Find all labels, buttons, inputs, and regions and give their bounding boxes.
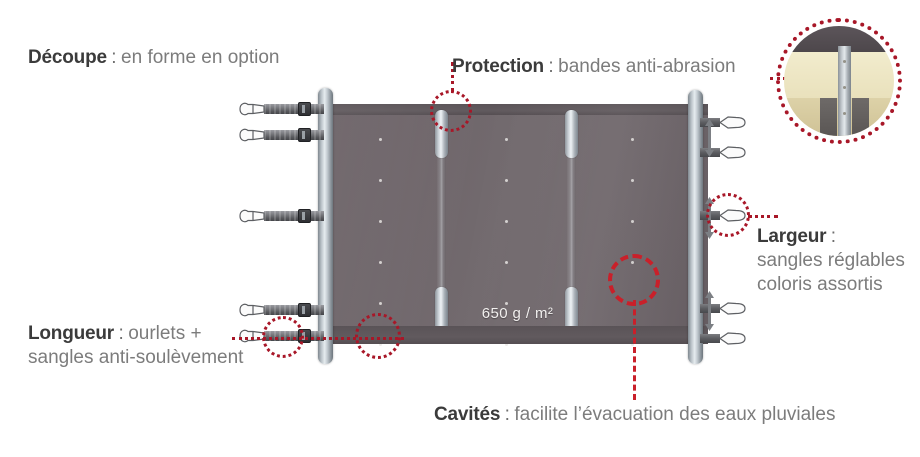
label-longueur-key: Longueur (28, 323, 114, 344)
tarp-sheet: 650 g / m² (327, 104, 708, 344)
hook-icon (236, 301, 266, 319)
hook-icon (236, 207, 266, 225)
annotation-leader-longueur (232, 337, 404, 340)
strap-webbing (264, 211, 324, 221)
label-decoupe-sep: : (111, 47, 116, 68)
label-cavites: Cavités : facilite l’évacuation des eaux… (434, 403, 835, 427)
label-decoupe: Découpe : en forme en option (28, 46, 279, 70)
strap-webbing (264, 104, 324, 114)
inset-block-left (820, 98, 837, 136)
label-protection-key: Protection (452, 56, 544, 77)
strap-left-2 (236, 130, 324, 140)
label-largeur-value: sangles réglables (757, 249, 917, 273)
label-longueur: Longueur : ourlets + sangles anti-soulèv… (28, 322, 243, 370)
tarp-hem-top (327, 104, 708, 115)
inset-clip (784, 26, 894, 136)
band-cap-top (565, 110, 578, 158)
label-longueur-value: ourlets + (128, 323, 201, 344)
weight-label: 650 g / m² (482, 305, 554, 322)
hook-icon (718, 114, 748, 131)
buckle-icon (298, 102, 311, 116)
annotation-circle-protection (430, 90, 472, 132)
reinforcement-band-2 (567, 114, 576, 327)
strap-left-1 (236, 104, 324, 114)
hook-icon (236, 126, 266, 144)
strap-left-3 (236, 211, 324, 221)
strap-webbing (700, 334, 720, 343)
arrow-up-down-icon (703, 290, 716, 332)
strap-webbing (264, 130, 324, 140)
annotation-circle-largeur (706, 193, 750, 237)
stitch-column (505, 138, 508, 384)
strap-left-4 (236, 305, 324, 315)
diagram-canvas: 650 g / m² (0, 0, 920, 457)
label-largeur-sep: : (831, 226, 836, 247)
buckle-icon (298, 128, 311, 142)
rail-right (688, 90, 703, 364)
label-cavites-value: facilite l’évacuation des eaux pluviales (514, 404, 835, 425)
inset-block-right (852, 98, 869, 136)
label-decoupe-value: en forme en option (121, 47, 279, 68)
arrow-up-down-icon (703, 118, 716, 158)
label-protection: Protection : bandes anti-abrasion (452, 55, 736, 79)
label-cavites-sep: : (505, 404, 510, 425)
buckle-icon (298, 209, 311, 223)
label-largeur-value2: coloris assortis (757, 273, 917, 297)
label-cavites-key: Cavités (434, 404, 500, 425)
hook-icon (718, 300, 748, 317)
strap-right-5 (700, 334, 748, 343)
reinforcement-band-1 (437, 114, 446, 327)
buckle-icon (298, 303, 311, 317)
annotation-circle-cavites (608, 254, 660, 306)
label-longueur-value2: sangles anti-soulèvement (28, 346, 243, 370)
strap-webbing (264, 305, 324, 315)
inset-post (838, 46, 851, 136)
magnified-detail-icon (776, 18, 902, 144)
annotation-leader-largeur (748, 215, 778, 218)
label-decoupe-key: Découpe (28, 47, 107, 68)
label-protection-sep: : (548, 56, 553, 77)
annotation-leader-cavites (633, 300, 636, 400)
label-longueur-sep: : (118, 323, 123, 344)
label-largeur: Largeur : sangles réglables coloris asso… (757, 225, 917, 296)
label-largeur-key: Largeur (757, 226, 826, 247)
label-protection-value: bandes anti-abrasion (558, 56, 735, 77)
hook-icon (718, 330, 748, 347)
hook-icon (718, 144, 748, 161)
hook-icon (236, 100, 266, 118)
annotation-circle-longueur-hem (355, 313, 401, 359)
